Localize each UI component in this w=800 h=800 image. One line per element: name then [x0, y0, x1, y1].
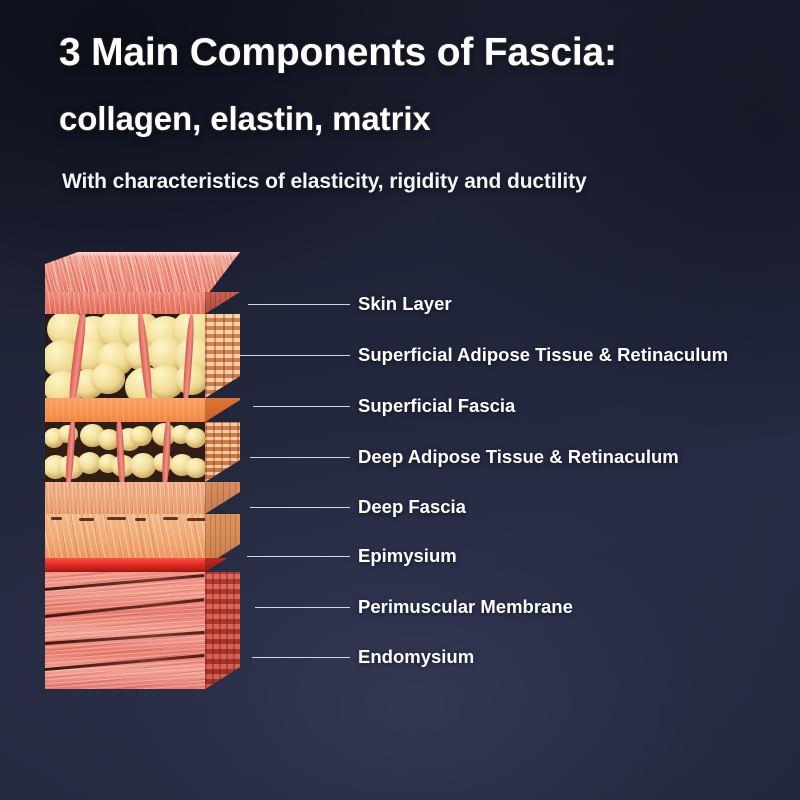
layer-label-epimysium: Epimysium: [358, 545, 457, 567]
layer-epimysium-band: [45, 558, 205, 572]
leader-line-superficial-adipose: [238, 355, 350, 356]
infographic-canvas: 3 Main Components of Fascia: collagen, e…: [0, 0, 800, 800]
fat-globule: [130, 453, 157, 478]
layer-deep-fascia-side-face: [205, 482, 240, 514]
page-subtitle: With characteristics of elasticity, rigi…: [62, 170, 587, 194]
muscle-bundle-groove: [45, 631, 205, 645]
layer-superficial-adipose: [45, 314, 205, 398]
muscle-bundle-groove: [45, 654, 205, 671]
layer-label-endomysium: Endomysium: [358, 646, 474, 668]
layer-deep-fascia: [45, 482, 205, 514]
layer-superficial-adipose-side-face: [205, 314, 240, 398]
layer-label-superficial-fascia: Superficial Fascia: [358, 395, 515, 417]
leader-line-endomysium: [252, 657, 350, 658]
leader-line-deep-adipose: [250, 457, 350, 458]
fat-globule: [185, 428, 205, 448]
connective-fleck: [107, 517, 126, 520]
layer-label-deep-fascia: Deep Fascia: [358, 496, 466, 518]
muscle-bundle-groove: [45, 598, 204, 618]
layer-muscle-bundles: [45, 572, 205, 689]
layer-deep-adipose-side-face: [205, 422, 240, 482]
layer-label-perimuscular: Perimuscular Membrane: [358, 596, 573, 618]
connective-fleck: [163, 517, 178, 520]
layer-label-skin: Skin Layer: [358, 293, 452, 315]
page-title-line-1: 3 Main Components of Fascia:: [59, 31, 617, 75]
layer-epimysium-band-side-face: [205, 558, 240, 572]
layer-label-deep-adipose: Deep Adipose Tissue & Retinaculum: [358, 446, 679, 468]
layer-skin-side-face: [205, 292, 240, 314]
fat-globule: [185, 458, 205, 479]
leader-line-perimuscular: [255, 607, 350, 608]
leader-line-epimysium: [247, 556, 350, 557]
layer-skin: [45, 292, 205, 314]
fascia-cross-section-diagram: [45, 252, 240, 689]
connective-fleck: [51, 517, 62, 520]
connective-fleck: [79, 518, 94, 521]
layer-muscle-bundles-side-face: [205, 572, 240, 689]
layer-deep-adipose: [45, 422, 205, 482]
connective-fleck: [135, 518, 146, 521]
leader-line-deep-fascia: [250, 507, 350, 508]
fat-globule: [91, 363, 125, 394]
layer-superficial-fascia: [45, 398, 205, 422]
layer-superficial-fascia-side-face: [205, 398, 240, 422]
muscle-bundle-groove: [45, 574, 205, 591]
leader-line-superficial-fascia: [253, 406, 350, 407]
fat-globule: [130, 426, 152, 446]
layer-label-superficial-adipose: Superficial Adipose Tissue & Retinaculum: [358, 344, 728, 366]
connective-fleck: [187, 518, 205, 521]
leader-line-skin: [248, 304, 350, 305]
page-title-line-2: collagen, elastin, matrix: [59, 100, 431, 138]
